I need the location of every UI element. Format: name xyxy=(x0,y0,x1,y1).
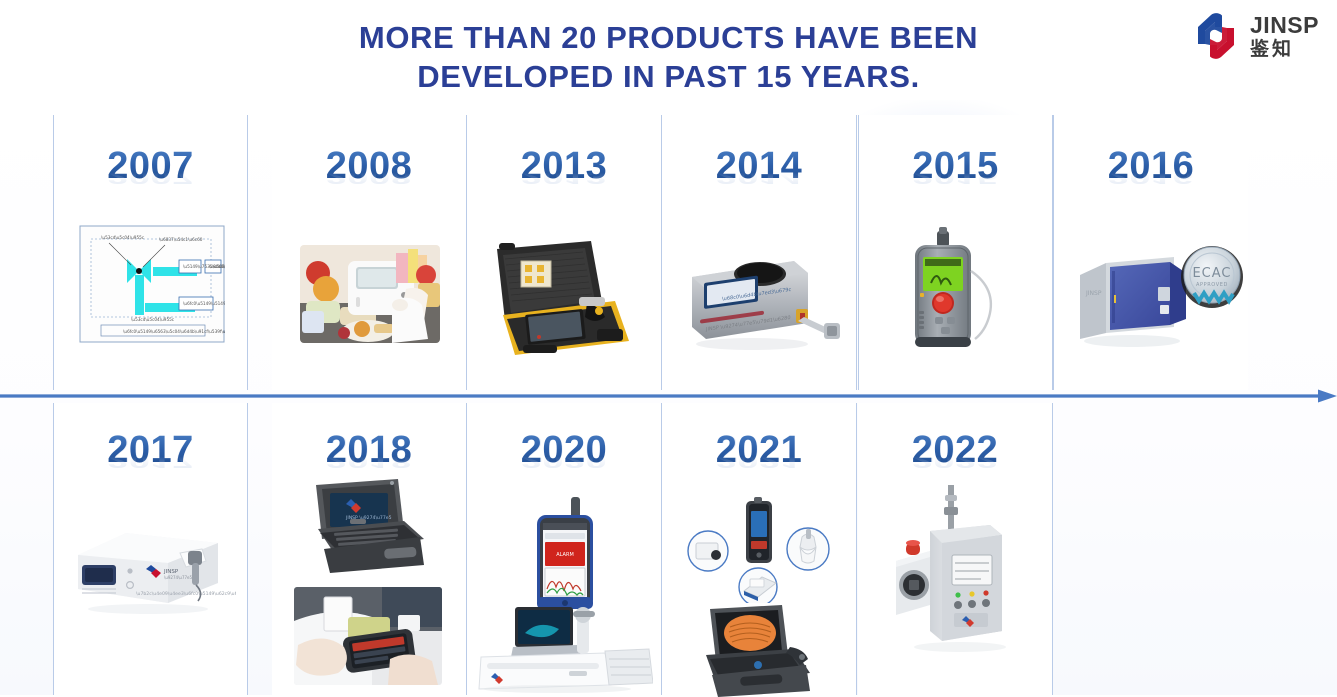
timeline-card-2017[interactable]: 2017 2017 2017 JINSP \u9274\u77e5 xyxy=(53,403,248,695)
timeline-card-2016[interactable]: 2016 2016 JINSP xyxy=(1053,115,1248,390)
logo-name-cn: 鉴知 xyxy=(1250,40,1319,59)
timeline-card-2008[interactable]: 2008 2008 xyxy=(272,115,467,390)
year-label-2017: 2017 xyxy=(54,429,247,472)
year-label-2013: 2013 xyxy=(467,145,661,188)
logo-wordmark: JINSP 鉴知 xyxy=(1250,14,1319,59)
product-image-2016: JINSP ECAC APPROVED xyxy=(1062,235,1248,355)
svg-text:ECAC: ECAC xyxy=(1192,266,1231,281)
product-image-2020-secondary xyxy=(477,599,653,693)
year-label-2021: 2021 xyxy=(662,429,856,472)
jinsp-mark-icon xyxy=(1191,12,1241,60)
svg-text:\u53cd\u5c04\u955c: \u53cd\u5c04\u955c xyxy=(101,235,145,240)
timeline-card-2018[interactable]: 2018 2018 2018 JINSP \u9274\u77e5 xyxy=(272,403,467,695)
svg-text:\u6fc0\u5149\u5149\u6e90: \u6fc0\u5149\u5149\u6e90 xyxy=(183,301,225,306)
svg-text:\u8bb0\u5f55\u5668: \u8bb0\u5f55\u5668 xyxy=(209,264,225,269)
accessory-badge-left xyxy=(688,531,728,571)
timeline-card-2015[interactable]: 2015 2015 xyxy=(858,115,1053,390)
year-label-2014: 2014 xyxy=(662,145,856,188)
timeline-card-2014[interactable]: 2014 2014 \u68c0\u6d4b\u7ed3\u679c JINSP… xyxy=(662,115,857,390)
year-label-2020: 2020 xyxy=(467,429,661,472)
year-label-2022: 2022 xyxy=(858,429,1052,472)
timeline-card-2021[interactable]: 2021 2021 2021 xyxy=(662,403,857,695)
product-image-2014: \u68c0\u6d4b\u7ed3\u679c JINSP \u9274\u7… xyxy=(676,243,842,355)
year-label-2016: 2016 xyxy=(1054,145,1248,188)
logo-name-en: JINSP xyxy=(1250,14,1319,37)
svg-text:\u7b2c\u4e09\u4ee3\u6fc0\u5149: \u7b2c\u4e09\u4ee3\u6fc0\u5149\u62c9\u66… xyxy=(136,591,236,597)
accessory-badge-right xyxy=(787,528,829,570)
product-image-2018-primary: JINSP \u9274\u77e5 xyxy=(300,473,434,577)
page-title: MORE THAN 20 PRODUCTS HAVE BEEN DEVELOPE… xyxy=(0,18,1337,96)
product-image-2020-primary: ALARM xyxy=(523,497,607,613)
svg-text:\u6fc0\u5149\u6563\u5c04\u6d4b: \u6fc0\u5149\u6563\u5c04\u6d4b\u91cf\u53… xyxy=(123,329,225,334)
svg-text:\u6837\u54c1\u6c60: \u6837\u54c1\u6c60 xyxy=(159,237,203,242)
svg-text:ALARM: ALARM xyxy=(556,552,574,558)
page-title-line1: MORE THAN 20 PRODUCTS HAVE BEEN xyxy=(359,20,978,55)
year-label-2007: 2007 xyxy=(54,145,247,188)
brand-logo: JINSP 鉴知 xyxy=(1191,12,1319,60)
svg-text:APPROVED: APPROVED xyxy=(1196,282,1228,288)
slide-root: MORE THAN 20 PRODUCTS HAVE BEEN DEVELOPE… xyxy=(0,0,1337,695)
product-image-2021-primary xyxy=(684,495,834,603)
product-image-2017: JINSP \u9274\u77e5 \u7b2c\u4e09\u4ee3\u6… xyxy=(68,509,236,619)
svg-text:JINSP: JINSP xyxy=(1085,290,1102,297)
year-label-2018: 2018 xyxy=(272,429,466,472)
year-label-2015: 2015 xyxy=(859,145,1052,188)
year-label-2008: 2008 xyxy=(272,145,466,188)
product-image-2008 xyxy=(300,245,440,343)
product-image-2021-secondary xyxy=(686,603,832,697)
svg-text:\u53cd\u5c04\u955c: \u53cd\u5c04\u955c xyxy=(131,317,175,322)
product-image-2015 xyxy=(901,225,1013,357)
timeline-card-2007[interactable]: 2007 2007 \u53cd\u5c04\u955c xyxy=(53,115,248,390)
page-title-line2: DEVELOPED IN PAST 15 YEARS. xyxy=(0,57,1337,96)
accessory-badge-bottom xyxy=(739,568,777,603)
timeline-arrow xyxy=(0,389,1337,403)
svg-text:\u9274\u77e5: \u9274\u77e5 xyxy=(164,575,192,580)
product-image-2013 xyxy=(479,237,639,359)
timeline-card-2020[interactable]: 2020 2020 2020 ALARM xyxy=(467,403,662,695)
timeline-card-2013[interactable]: 2013 2013 xyxy=(467,115,662,390)
product-image-2018-secondary xyxy=(294,587,442,685)
timeline-card-2022[interactable]: 2022 2022 2022 xyxy=(858,403,1053,695)
product-image-2007: \u53cd\u5c04\u955c \u6837\u54c1\u6c60 \u… xyxy=(79,225,225,343)
product-image-2022 xyxy=(886,481,1026,669)
ecac-approved-badge: ECAC APPROVED xyxy=(1181,246,1243,308)
